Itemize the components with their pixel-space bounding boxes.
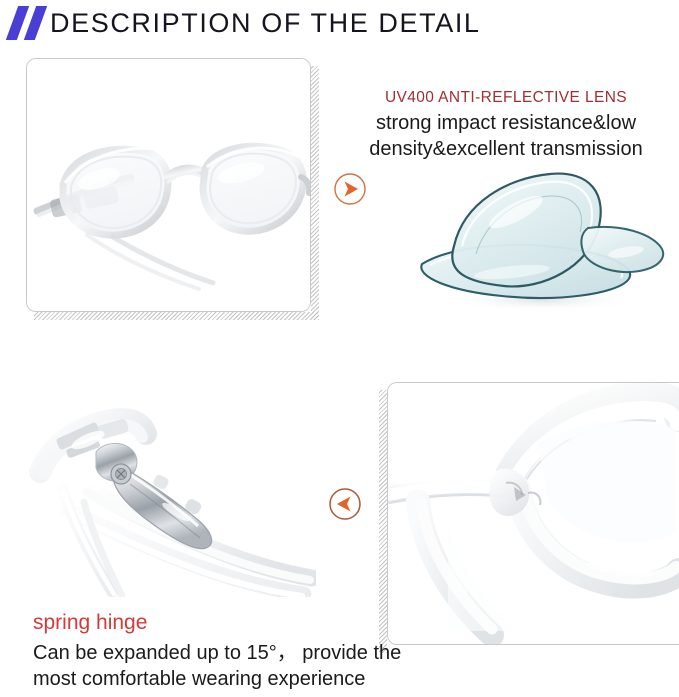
- frame-bridge-closeup-photo: [388, 383, 679, 644]
- lens-body-line-2: density&excellent transmission: [333, 137, 679, 163]
- hinge-body-line-2: most comfortable wearing experience: [33, 666, 503, 692]
- lens-heading: UV400 ANTI-REFLECTIVE LENS: [333, 88, 679, 107]
- double-slash-icon: [6, 6, 52, 40]
- hinge-heading: spring hinge: [33, 610, 503, 635]
- page-header: DESCRIPTION OF THE DETAIL: [0, 0, 679, 46]
- hinge-body: Can be expanded up to 15°， provide the m…: [33, 640, 503, 692]
- infographic-page: DESCRIPTION OF THE DETAIL: [0, 0, 679, 697]
- hinge-description-block: spring hinge Can be expanded up to 15°， …: [33, 610, 503, 692]
- anti-reflective-lens-photo: [392, 168, 679, 314]
- lens-body-line-1: strong impact resistance&low: [333, 111, 679, 137]
- clear-frame-eyeglasses-photo-panel: [26, 58, 311, 312]
- arrow-left-circle-icon: [328, 487, 362, 521]
- frame-bridge-closeup-photo-panel: [387, 382, 679, 645]
- panel-shadow-right: [311, 66, 319, 320]
- panel-shadow-bottom: [34, 312, 319, 320]
- hinge-body-line-1: Can be expanded up to 15°， provide the: [33, 640, 503, 666]
- lens-description-block: UV400 ANTI-REFLECTIVE LENS strong impact…: [333, 88, 679, 163]
- page-title: DESCRIPTION OF THE DETAIL: [50, 10, 481, 37]
- clear-frame-eyeglasses-photo: [27, 59, 310, 311]
- arrow-right-circle-icon: [333, 172, 367, 206]
- spring-hinge-closeup-photo: [26, 392, 316, 597]
